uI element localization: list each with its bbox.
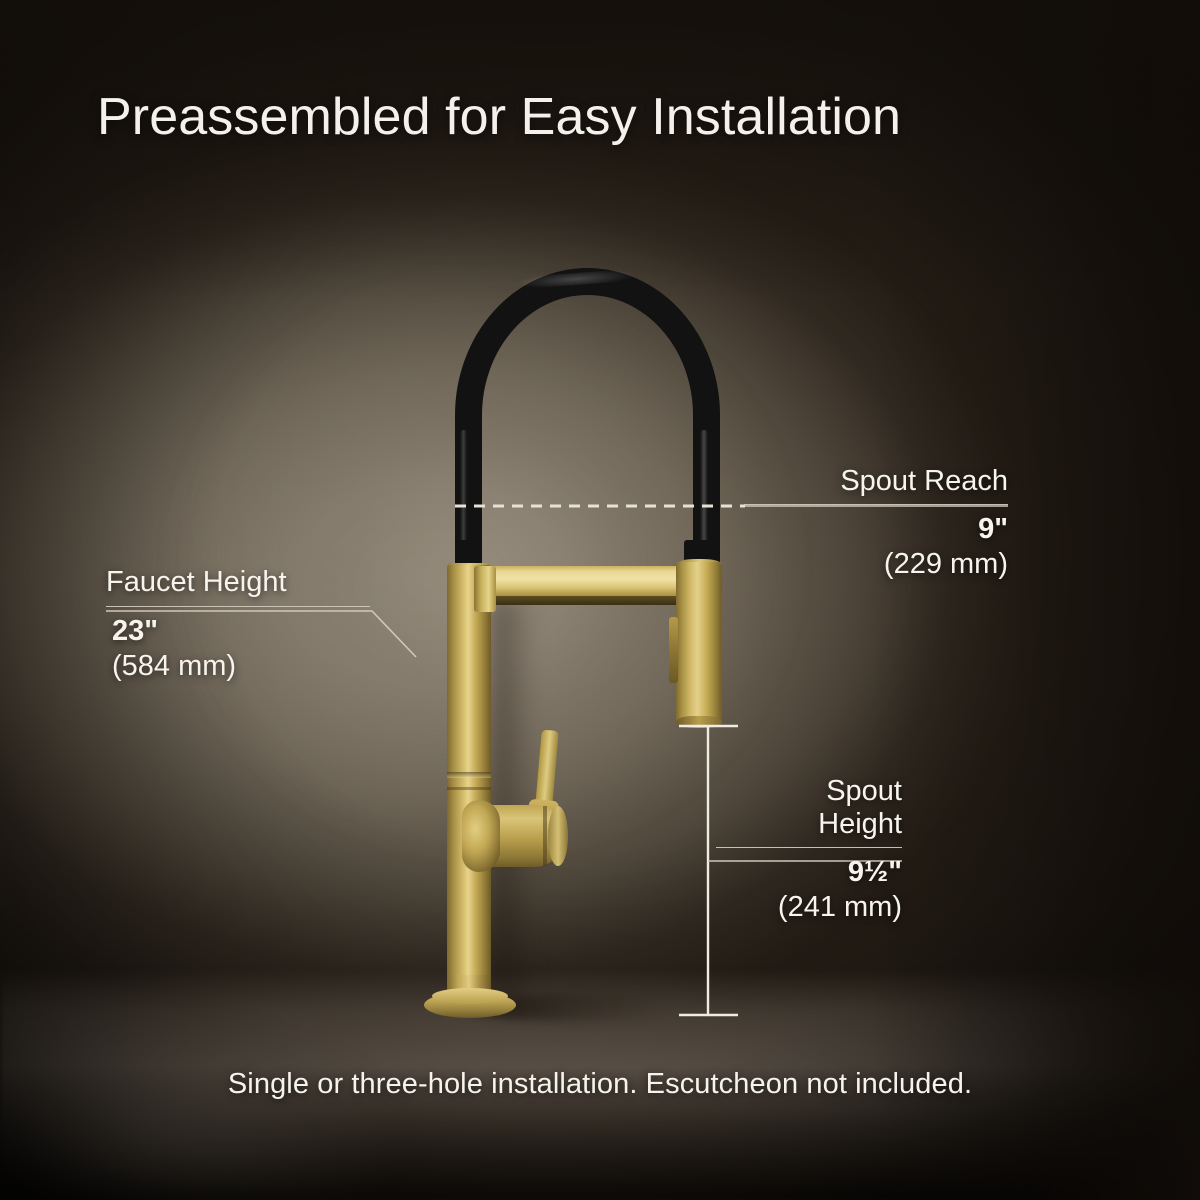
column-seam <box>447 772 491 778</box>
product-infographic: Preassembled for Easy Installation Fauce… <box>0 0 1200 1200</box>
callout-spout-reach-rule <box>744 504 1008 505</box>
callout-spout-reach-title: Spout Reach <box>744 465 1008 498</box>
spray-head <box>676 562 722 726</box>
footer-note: Single or three-hole installation. Escut… <box>0 1068 1200 1101</box>
handle-hub-ring <box>543 806 547 866</box>
callout-faucet-height-rule <box>106 606 370 607</box>
callout-spout-reach: Spout Reach 9" (229 mm) <box>744 465 1008 582</box>
callout-spout-height-rule <box>716 847 902 848</box>
page-title: Preassembled for Easy Installation <box>97 86 901 149</box>
callout-faucet-height-metric: (584 mm) <box>112 649 378 684</box>
callout-faucet-height-title: Faucet Height <box>106 566 378 599</box>
crossbar-underside <box>481 596 699 605</box>
callout-spout-height-metric: (241 mm) <box>716 890 902 925</box>
spray-mode-button <box>669 617 678 683</box>
handle-hub-cap <box>548 806 568 866</box>
callout-spout-height-value: 9½" <box>716 855 902 890</box>
spray-head-nozzle <box>676 716 722 728</box>
base-flange-top <box>432 988 508 1004</box>
crossbar-joint <box>474 566 496 612</box>
callout-spout-height: Spout Height 9½" (241 mm) <box>716 775 902 925</box>
column-seam-secondary <box>447 787 491 790</box>
faucet-column <box>447 565 491 1005</box>
callout-spout-reach-value: 9" <box>744 512 1008 547</box>
handle-knuckle <box>462 800 500 872</box>
callout-spout-height-title: Spout Height <box>716 775 902 841</box>
callout-faucet-height: Faucet Height 23" (584 mm) <box>106 566 378 684</box>
callout-faucet-height-value: 23" <box>112 614 378 649</box>
callout-spout-reach-metric: (229 mm) <box>744 547 1008 582</box>
